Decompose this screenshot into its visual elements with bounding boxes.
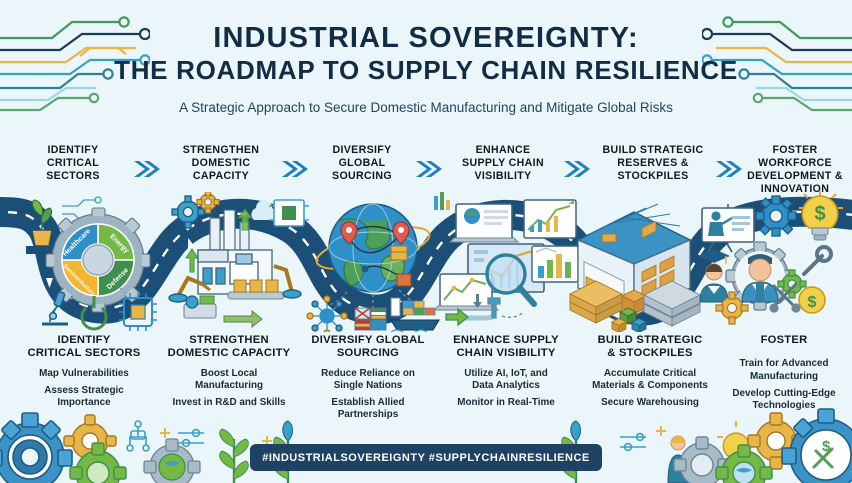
page-title-line-1: INDUSTRIAL SOVEREIGNTY:: [0, 22, 852, 54]
microchip-icon: [119, 293, 157, 331]
step-detail-bullets: Map Vulnerabilities Assess Strategic Imp…: [10, 368, 158, 409]
cube-icon: [632, 319, 646, 333]
illustration-workforce-training-innovation: $: [692, 190, 844, 332]
step-detail-heading: ENHANCE SUPPLY CHAIN VISIBILITY: [436, 334, 576, 361]
step-detail-heading: STRENGTHEN DOMESTIC CAPACITY: [158, 334, 300, 361]
list-item: Assess Strategic Importance: [10, 385, 158, 409]
double-chevron-right-icon: [414, 158, 444, 180]
infographic-poster: INDUSTRIAL SOVEREIGNTY: THE ROADMAP TO S…: [0, 0, 852, 483]
slider-icon: [178, 430, 204, 447]
bar-chart-icon: [434, 192, 450, 210]
list-item: Reduce Reliance on Single Nations: [300, 368, 436, 392]
footer-hashtag-band: #INDUSTRIALSOVEREIGNTY #SUPPLYCHAINRESIL…: [250, 444, 602, 471]
plant-icon: [26, 200, 56, 254]
cloud-icon: [251, 200, 275, 220]
package-icon: [397, 274, 411, 286]
step-detail-bullets: Train for Advanced Manufacturing Develop…: [724, 358, 844, 411]
list-item: Train for Advanced Manufacturing: [724, 358, 844, 382]
list-item: Utilize AI, IoT, and Data Analytics: [436, 368, 576, 392]
illustration-globe-network-flags-ship: [303, 192, 449, 332]
training-board-icon: [702, 204, 754, 252]
svg-text:$: $: [814, 203, 825, 225]
flags-icon: [355, 308, 386, 330]
conveyor-belt-icon: [228, 280, 284, 299]
step-detail-heading: FOSTER: [724, 334, 844, 347]
illustration-gear-donut-critical-sectors: Healthcare Energy Defense Semiconductors: [20, 192, 180, 334]
right-arrow-icon: [224, 311, 262, 327]
svg-text:$: $: [808, 294, 817, 311]
step-detail-bullets: Accumulate Critical Materials & Componen…: [576, 368, 724, 409]
poster-header: INDUSTRIAL SOVEREIGNTY: THE ROADMAP TO S…: [0, 22, 852, 115]
microscope-icon: [42, 291, 68, 324]
graduate-figure-icon: [698, 249, 730, 302]
step-top-label-1: IDENTIFY CRITICAL SECTORS: [14, 144, 132, 183]
double-chevron-right-icon: [562, 158, 592, 180]
dollar-sign-icon: $: [822, 438, 831, 455]
dollar-coin-icon: $: [799, 287, 825, 313]
cube-icon: [612, 319, 626, 333]
network-node-icon: [307, 296, 347, 332]
footer-hashtags: #INDUSTRIALSOVEREIGNTY #SUPPLYCHAINRESIL…: [262, 452, 590, 464]
list-item: Boost Local Manufacturing: [158, 368, 300, 392]
step-detail-heading: IDENTIFY CRITICAL SECTORS: [10, 334, 158, 361]
laptop-icon: [450, 204, 518, 242]
plant-icon: [220, 429, 249, 483]
chip-branch-icon: [127, 421, 149, 451]
step-top-label-2: STRENGTHEN DOMESTIC CAPACITY: [162, 144, 280, 183]
step-detail-heading: DIVERSIFY GLOBAL SOURCING: [300, 334, 436, 361]
package-icon: [391, 246, 407, 260]
step-detail-bullets: Utilize AI, IoT, and Data Analytics Moni…: [436, 368, 576, 409]
double-chevron-right-icon: [132, 158, 162, 180]
list-item: Map Vulnerabilities: [10, 368, 158, 380]
step-detail-heading: BUILD STRATEGIC & STOCKPILES: [576, 334, 724, 361]
double-chevron-right-icon: [280, 158, 310, 180]
illustration-warehouse-crates-pallets: [560, 192, 706, 332]
page-subtitle: A Strategic Approach to Secure Domestic …: [0, 100, 852, 115]
step-top-label-4: ENHANCE SUPPLY CHAIN VISIBILITY: [444, 144, 562, 183]
lightbulb-dollar-icon: $: [799, 191, 843, 240]
slider-icon: [620, 434, 646, 451]
step-top-label-5: BUILD STRATEGIC RESERVES & STOCKPILES: [592, 144, 714, 183]
page-title-line-2: THE ROADMAP TO SUPPLY CHAIN RESILIENCE: [0, 56, 852, 86]
list-item: Accumulate Critical Materials & Componen…: [576, 368, 724, 392]
up-arrow-icon: [186, 249, 198, 272]
step-detail-bullets: Boost Local Manufacturing Invest in R&D …: [158, 368, 300, 409]
double-chevron-right-icon: [714, 158, 744, 180]
illustration-factory-robot-arms-conveyor: [158, 192, 313, 330]
machine-icon: [184, 296, 216, 318]
gear-icon: [756, 196, 796, 236]
donut-chart-critical-sectors: Healthcare Energy Defense Semiconductors: [62, 224, 134, 297]
step-top-label-3: DIVERSIFY GLOBAL SOURCING: [310, 144, 414, 183]
